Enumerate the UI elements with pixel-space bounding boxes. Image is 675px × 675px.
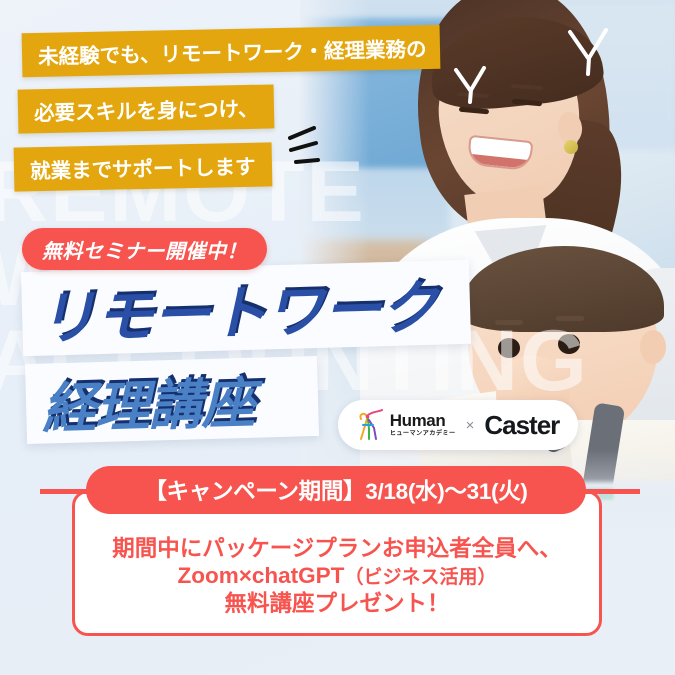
promo-line-3: 無料講座プレゼント！ <box>224 590 449 617</box>
promo-line-2-main: Zoom×chatGPT <box>178 563 345 588</box>
human-figure-icon <box>357 409 385 441</box>
sparkle-icon-small <box>450 62 496 108</box>
emphasis-strokes-icon <box>288 126 330 170</box>
human-logo-sub: ヒューマンアカデミー <box>390 431 456 437</box>
promo-line-2: Zoom×chatGPT（ビジネス活用） <box>178 562 497 589</box>
headline-bar-1: 未経験でも、リモートワーク・経理業務の <box>22 25 441 77</box>
human-academy-wordmark: Human ヒューマンアカデミー <box>390 412 456 437</box>
headline-bar-2: 必要スキルを身につけ、 <box>18 84 275 133</box>
promo-banner: REMOTE WORK ACCOUNTING 未経験でも、リモートワーク・経理業… <box>0 0 675 675</box>
title-line-2: 経理講座 <box>25 358 255 443</box>
human-academy-logo: Human ヒューマンアカデミー <box>357 409 456 441</box>
partner-logo-pill: Human ヒューマンアカデミー × Caster <box>338 400 578 450</box>
baby-ear <box>640 330 666 364</box>
human-logo-main: Human <box>390 412 456 429</box>
logo-separator-icon: × <box>466 417 475 434</box>
promo-line-1: 期間中にパッケージプランお申込者全員へ、 <box>112 535 562 562</box>
seminar-badge: 無料セミナー開催中！ <box>22 228 267 270</box>
sparkle-icon-large <box>562 22 622 82</box>
woman-earring <box>564 140 578 154</box>
campaign-period-pill: 【キャンペーン期間】3/18(水)〜31(火) <box>86 466 586 514</box>
title-plate-2: 経理講座 <box>25 356 319 444</box>
caster-logo: Caster <box>484 410 559 441</box>
title-plate-1: リモートワーク <box>21 260 471 356</box>
promo-line-2-sub: （ビジネス活用） <box>344 567 496 588</box>
title-line-1: リモートワーク <box>21 261 438 357</box>
headline-bar-3: 就業までサポートします <box>14 142 272 191</box>
